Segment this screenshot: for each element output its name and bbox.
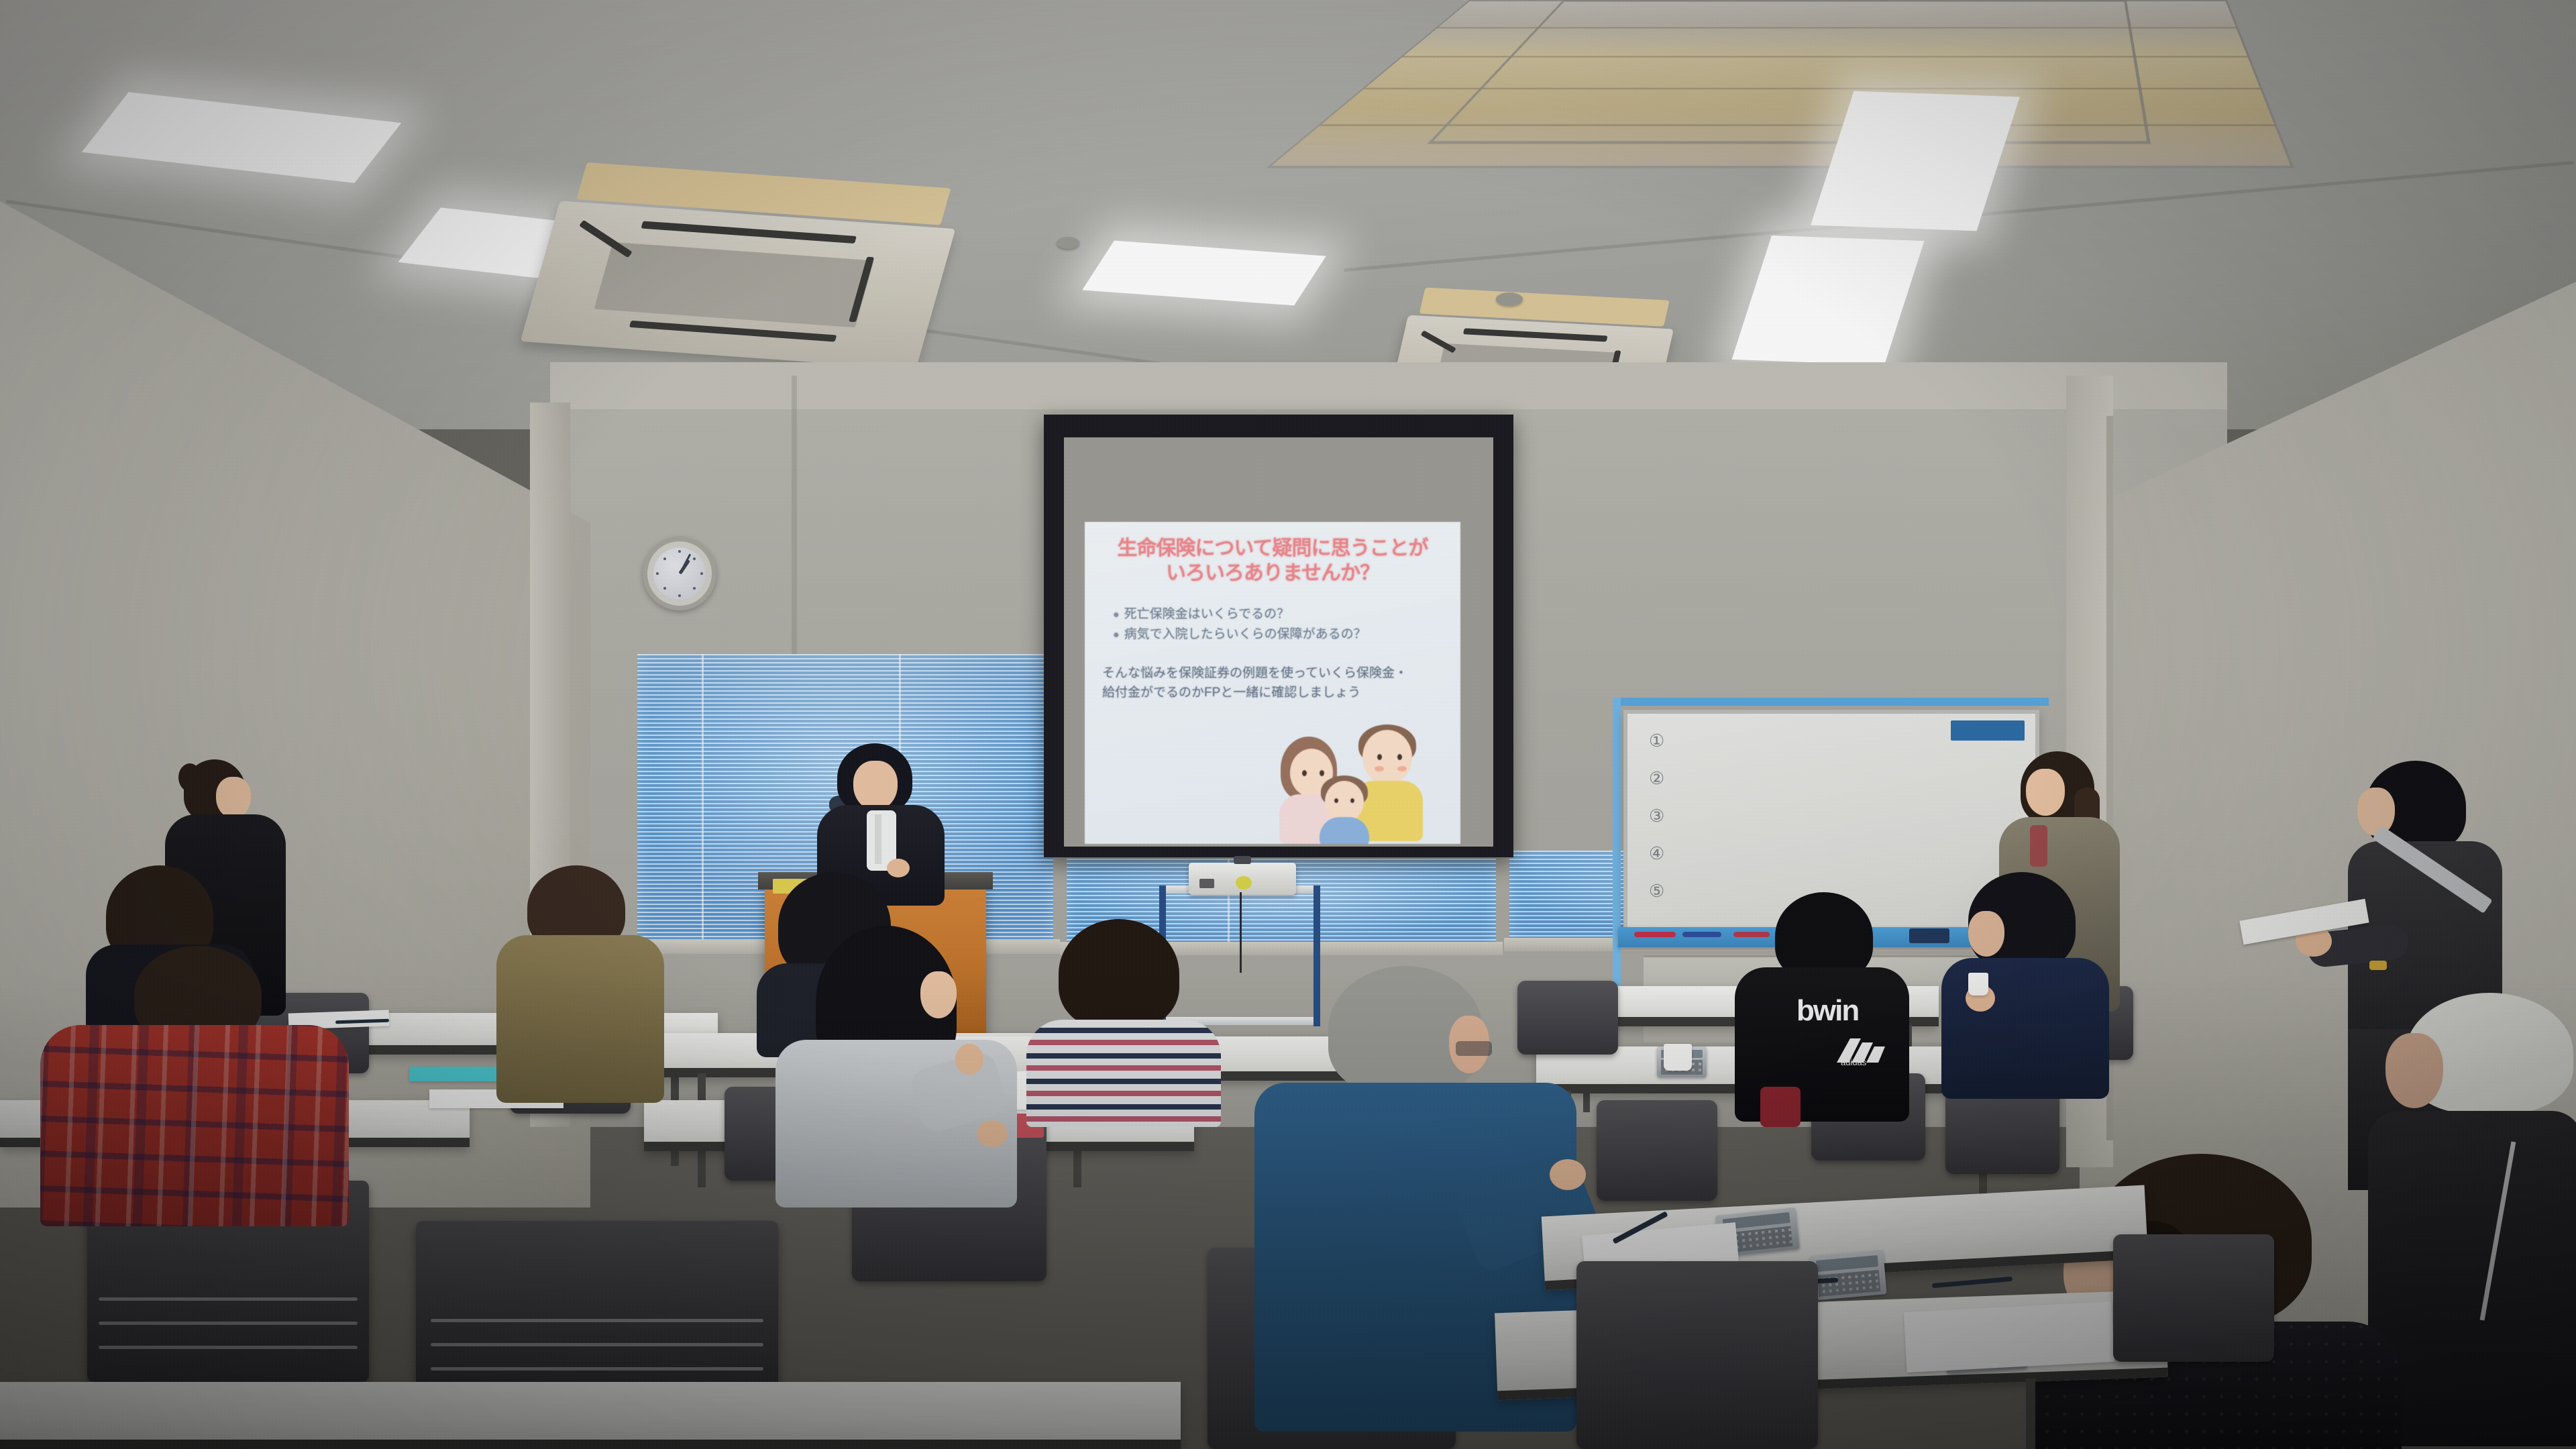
ceiling-air-conditioner: [521, 201, 956, 369]
whiteboard-number-2: ②: [1649, 769, 1664, 789]
paper: [1904, 1301, 2114, 1373]
jacket-brand-text: bwin: [1796, 994, 1858, 1028]
whiteboard-frame-top: [1613, 698, 2049, 706]
cup: [1664, 1044, 1692, 1071]
stacked-chairs: [416, 1221, 778, 1395]
chair[interactable]: [2113, 1234, 2274, 1362]
whiteboard-number-4: ④: [1649, 844, 1664, 864]
ceiling-speaker-icon: [1057, 237, 1079, 249]
slide-body-line2: 給付金がでるのかFPと一緒に確認しましょう: [1102, 684, 1444, 703]
adidas-logo: adidas: [1833, 1029, 1890, 1065]
person-attendee-striped: [1026, 919, 1221, 1120]
slide-title: 生命保険について疑問に思うことが いろいろありませんか？: [1085, 537, 1460, 586]
person-attendee-grey: [775, 926, 1017, 1207]
whiteboard-number-5: ⑤: [1649, 881, 1664, 902]
chair[interactable]: [1576, 1261, 1818, 1449]
projector: [1189, 863, 1296, 895]
marker-blue[interactable]: [1682, 932, 1721, 937]
slide-bullet: 死亡保険金はいくらでるの？: [1113, 604, 1460, 624]
paper-blue: [409, 1067, 503, 1081]
whiteboard-tag: [1951, 720, 2025, 741]
person-attendee-bwin: bwin adidas: [1735, 892, 1909, 1114]
slide-body-line1: そんな悩みを保険証券の例題を使っていくら保険金・: [1102, 664, 1444, 684]
person-attendee-olive: [496, 865, 664, 1093]
presentation-slide: 生命保険について疑問に思うことが いろいろありませんか？ 死亡保険金はいくらでる…: [1085, 522, 1460, 844]
table-leg: [2026, 1379, 2035, 1449]
ceiling-sensor-icon: [1496, 292, 1523, 306]
svg-text:adidas: adidas: [1841, 1057, 1867, 1065]
wall-clock: [643, 537, 716, 610]
family-illustration: [1270, 719, 1438, 840]
table: [0, 1382, 1181, 1449]
wristwatch: [2369, 961, 2387, 970]
glasses-icon: [1456, 1041, 1492, 1056]
calculator[interactable]: [1809, 1250, 1886, 1300]
pen[interactable]: [1932, 1277, 2012, 1288]
slide-title-line2: いろいろありませんか？: [1085, 561, 1460, 586]
slide-title-line1: 生命保険について疑問に思うことが: [1085, 537, 1460, 561]
whiteboard-number-1: ①: [1649, 731, 1664, 751]
seminar-room-photo: 生命保険について疑問に思うことが いろいろありませんか？ 死亡保険金はいくらでる…: [0, 0, 2576, 1449]
person-attendee-plaid: [40, 946, 349, 1228]
whiteboard-number-3: ③: [1649, 806, 1664, 826]
slide-bullet: 病気で入院したらいくらの保障があるの？: [1113, 625, 1460, 644]
slide-body: そんな悩みを保険証券の例題を使っていくら保険金・ 給付金がでるのかFPと一緒に確…: [1102, 664, 1444, 702]
slide-bullet-list: 死亡保険金はいくらでるの？ 病気で入院したらいくらの保障があるの？: [1113, 604, 1460, 644]
wall-soffit: [550, 362, 2227, 409]
marker-red[interactable]: [1634, 932, 1676, 937]
projector-cable: [1240, 892, 1242, 973]
person-attendee-navy: [1941, 872, 2109, 1093]
chair[interactable]: [1597, 1100, 1717, 1201]
